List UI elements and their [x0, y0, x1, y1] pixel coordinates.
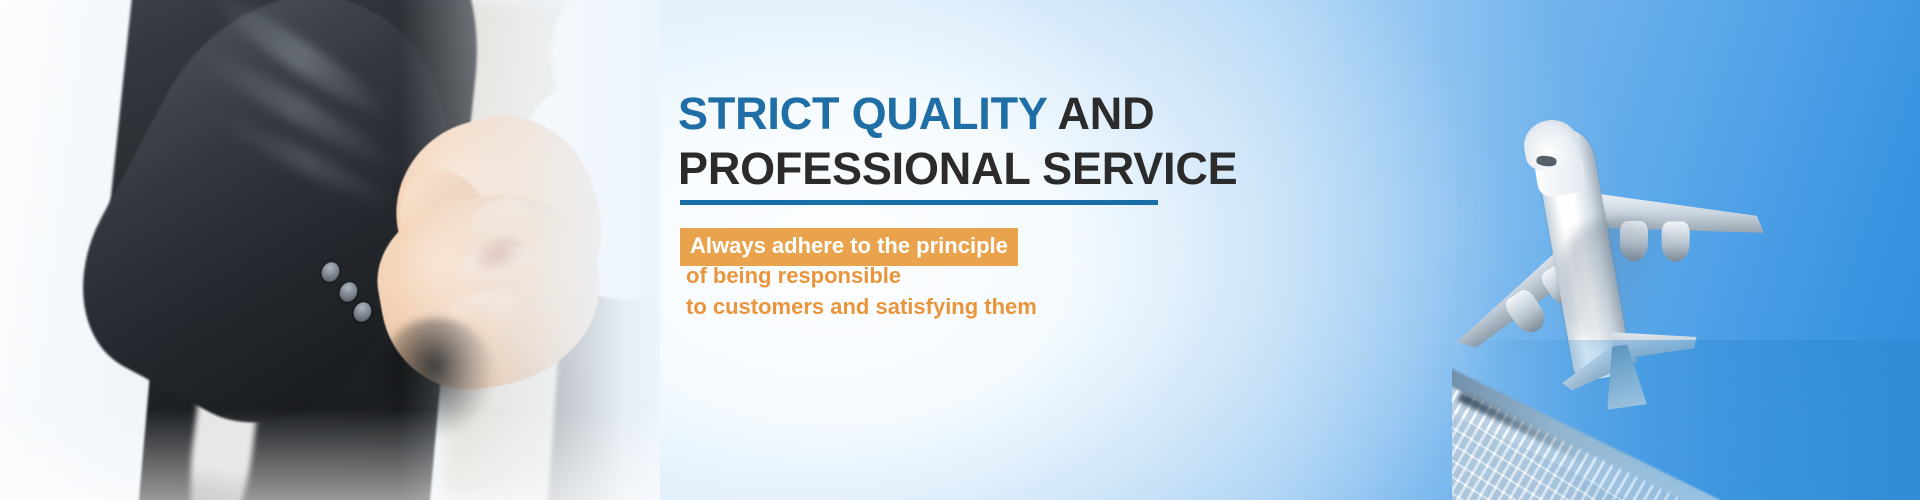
- handshake-photo-inner: [0, 0, 660, 500]
- skyscraper-building: [1452, 340, 1920, 500]
- handshake-photo: [0, 0, 660, 500]
- headline-line-1: STRICT QUALITY AND: [678, 86, 1198, 141]
- skyscraper-sky-fade: [1452, 340, 1920, 500]
- promotional-banner: STRICT QUALITY AND PROFESSIONAL SERVICE …: [0, 0, 1920, 500]
- headline-line-1-rest: AND: [1047, 88, 1155, 139]
- headline: STRICT QUALITY AND PROFESSIONAL SERVICE: [678, 86, 1198, 196]
- headline-divider: [680, 200, 1158, 205]
- photo-bottom-fade: [0, 410, 660, 500]
- tagline-line-2: of being responsible: [686, 263, 901, 289]
- headline-line-2: PROFESSIONAL SERVICE: [678, 141, 1198, 196]
- headline-highlight: STRICT QUALITY: [678, 88, 1047, 139]
- tagline-badge: Always adhere to the principle: [680, 228, 1018, 266]
- tagline-line-3: to customers and satisfying them: [686, 294, 1037, 320]
- banner-content: STRICT QUALITY AND PROFESSIONAL SERVICE …: [678, 0, 1238, 500]
